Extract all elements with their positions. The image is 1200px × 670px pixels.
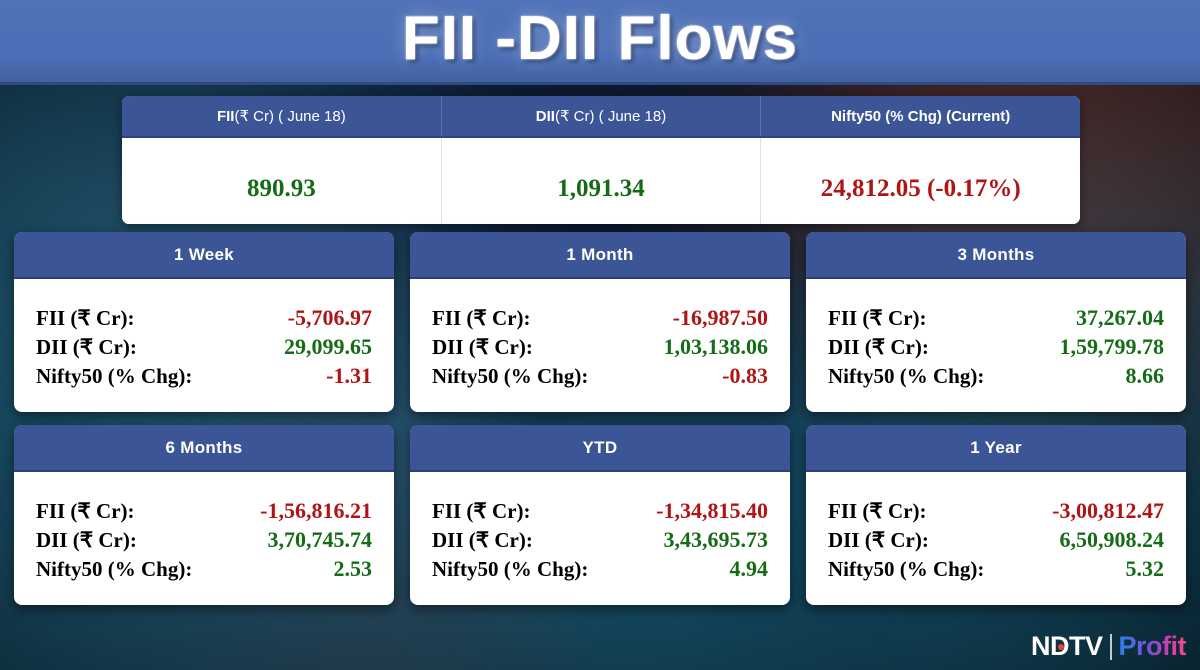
card-label-dii: DII (₹ Cr): [36, 335, 137, 361]
period-card-3-months: 3 Months FII (₹ Cr): 37,267.04 DII (₹ Cr… [806, 232, 1186, 412]
card-body-1-week: FII (₹ Cr): -5,706.97 DII (₹ Cr): 29,099… [14, 279, 394, 412]
card-row-fii: FII (₹ Cr): -1,56,816.21 [36, 498, 372, 525]
card-label-nifty: Nifty50 (% Chg): [36, 364, 192, 390]
card-label-dii: DII (₹ Cr): [432, 528, 533, 554]
period-card-1-year: 1 Year FII (₹ Cr): -3,00,812.47 DII (₹ C… [806, 425, 1186, 605]
card-value-fii: -16,987.50 [673, 305, 768, 332]
summary-table-value-row: 890.93 1,091.34 24,812.05 (-0.17%) [122, 138, 1080, 224]
card-row-nifty: Nifty50 (% Chg): 8.66 [828, 363, 1164, 390]
card-label-nifty: Nifty50 (% Chg): [432, 557, 588, 583]
ndtv-wordmark: NDTV [1031, 631, 1103, 662]
card-label-nifty: Nifty50 (% Chg): [828, 557, 984, 583]
card-value-dii: 1,59,799.78 [1060, 334, 1165, 361]
card-label-dii: DII (₹ Cr): [36, 528, 137, 554]
card-title-3-months: 3 Months [806, 232, 1186, 279]
card-label-fii: FII (₹ Cr): [828, 306, 927, 332]
summary-header-dii: DII (₹ Cr) ( June 18) [442, 96, 762, 136]
card-title-6-months: 6 Months [14, 425, 394, 472]
card-value-fii: -3,00,812.47 [1052, 498, 1164, 525]
card-value-fii: -1,34,815.40 [656, 498, 768, 525]
card-label-dii: DII (₹ Cr): [432, 335, 533, 361]
summary-header-nifty-bold: Nifty50 (% Chg) (Current) [831, 108, 1010, 125]
page-banner: FII -DII Flows [0, 0, 1200, 85]
period-card-6-months: 6 Months FII (₹ Cr): -1,56,816.21 DII (₹… [14, 425, 394, 605]
card-title-1-month: 1 Month [410, 232, 790, 279]
card-value-dii: 1,03,138.06 [664, 334, 769, 361]
period-card-1-week: 1 Week FII (₹ Cr): -5,706.97 DII (₹ Cr):… [14, 232, 394, 412]
card-row-nifty: Nifty50 (% Chg): 5.32 [828, 556, 1164, 583]
summary-header-fii: FII (₹ Cr) ( June 18) [122, 96, 442, 136]
card-row-dii: DII (₹ Cr): 3,43,695.73 [432, 527, 768, 554]
card-body-6-months: FII (₹ Cr): -1,56,816.21 DII (₹ Cr): 3,7… [14, 472, 394, 605]
card-row-nifty: Nifty50 (% Chg): 2.53 [36, 556, 372, 583]
card-title-1-week: 1 Week [14, 232, 394, 279]
card-value-nifty: -1.31 [326, 363, 372, 390]
card-label-dii: DII (₹ Cr): [828, 528, 929, 554]
card-label-fii: FII (₹ Cr): [432, 499, 531, 525]
card-label-nifty: Nifty50 (% Chg): [828, 364, 984, 390]
card-row-dii: DII (₹ Cr): 1,03,138.06 [432, 334, 768, 361]
card-value-dii: 3,70,745.74 [268, 527, 373, 554]
summary-header-dii-sub: (₹ Cr) ( June 18) [555, 107, 666, 125]
card-row-dii: DII (₹ Cr): 1,59,799.78 [828, 334, 1164, 361]
card-row-nifty: Nifty50 (% Chg): -1.31 [36, 363, 372, 390]
card-row-nifty: Nifty50 (% Chg): 4.94 [432, 556, 768, 583]
period-card-1-month: 1 Month FII (₹ Cr): -16,987.50 DII (₹ Cr… [410, 232, 790, 412]
card-body-1-month: FII (₹ Cr): -16,987.50 DII (₹ Cr): 1,03,… [410, 279, 790, 412]
card-body-ytd: FII (₹ Cr): -1,34,815.40 DII (₹ Cr): 3,4… [410, 472, 790, 605]
card-value-nifty: 8.66 [1126, 363, 1165, 390]
card-row-dii: DII (₹ Cr): 29,099.65 [36, 334, 372, 361]
ndtv-wordmark-text: NDTV [1031, 631, 1103, 661]
summary-value-fii: 890.93 [122, 138, 442, 224]
card-label-fii: FII (₹ Cr): [36, 306, 135, 332]
card-row-fii: FII (₹ Cr): -5,706.97 [36, 305, 372, 332]
summary-header-fii-sub: (₹ Cr) ( June 18) [234, 107, 345, 125]
card-row-dii: DII (₹ Cr): 3,70,745.74 [36, 527, 372, 554]
card-value-nifty: 2.53 [334, 556, 373, 583]
summary-header-fii-bold: FII [217, 108, 235, 125]
card-label-nifty: Nifty50 (% Chg): [36, 557, 192, 583]
card-label-fii: FII (₹ Cr): [36, 499, 135, 525]
ndtv-red-dot-icon [1058, 644, 1064, 650]
card-value-dii: 29,099.65 [284, 334, 372, 361]
card-value-nifty: 4.94 [730, 556, 769, 583]
card-label-dii: DII (₹ Cr): [828, 335, 929, 361]
card-row-fii: FII (₹ Cr): -3,00,812.47 [828, 498, 1164, 525]
period-cards-grid: 1 Week FII (₹ Cr): -5,706.97 DII (₹ Cr):… [14, 232, 1186, 605]
card-value-nifty: -0.83 [722, 363, 768, 390]
card-row-fii: FII (₹ Cr): -1,34,815.40 [432, 498, 768, 525]
card-label-fii: FII (₹ Cr): [828, 499, 927, 525]
page-title: FII -DII Flows [402, 8, 798, 74]
summary-header-nifty: Nifty50 (% Chg) (Current) [761, 96, 1080, 136]
card-value-fii: 37,267.04 [1076, 305, 1164, 332]
card-value-fii: -5,706.97 [288, 305, 372, 332]
card-value-dii: 6,50,908.24 [1060, 527, 1165, 554]
card-value-dii: 3,43,695.73 [664, 527, 769, 554]
card-label-nifty: Nifty50 (% Chg): [432, 364, 588, 390]
ndtv-profit-logo: NDTV Profit [1031, 631, 1186, 662]
summary-header-dii-bold: DII [536, 108, 555, 125]
card-body-3-months: FII (₹ Cr): 37,267.04 DII (₹ Cr): 1,59,7… [806, 279, 1186, 412]
summary-table-header-row: FII (₹ Cr) ( June 18) DII (₹ Cr) ( June … [122, 96, 1080, 138]
card-row-dii: DII (₹ Cr): 6,50,908.24 [828, 527, 1164, 554]
logo-divider [1110, 634, 1112, 660]
card-title-ytd: YTD [410, 425, 790, 472]
summary-table: FII (₹ Cr) ( June 18) DII (₹ Cr) ( June … [122, 96, 1080, 224]
card-row-nifty: Nifty50 (% Chg): -0.83 [432, 363, 768, 390]
card-row-fii: FII (₹ Cr): 37,267.04 [828, 305, 1164, 332]
summary-value-nifty: 24,812.05 (-0.17%) [761, 138, 1080, 224]
card-value-nifty: 5.32 [1126, 556, 1165, 583]
period-card-ytd: YTD FII (₹ Cr): -1,34,815.40 DII (₹ Cr):… [410, 425, 790, 605]
card-row-fii: FII (₹ Cr): -16,987.50 [432, 305, 768, 332]
profit-wordmark: Profit [1119, 631, 1187, 662]
card-body-1-year: FII (₹ Cr): -3,00,812.47 DII (₹ Cr): 6,5… [806, 472, 1186, 605]
card-title-1-year: 1 Year [806, 425, 1186, 472]
dashboard-root: FII -DII Flows FII (₹ Cr) ( June 18) DII… [0, 0, 1200, 670]
card-label-fii: FII (₹ Cr): [432, 306, 531, 332]
card-value-fii: -1,56,816.21 [260, 498, 372, 525]
summary-value-dii: 1,091.34 [442, 138, 762, 224]
